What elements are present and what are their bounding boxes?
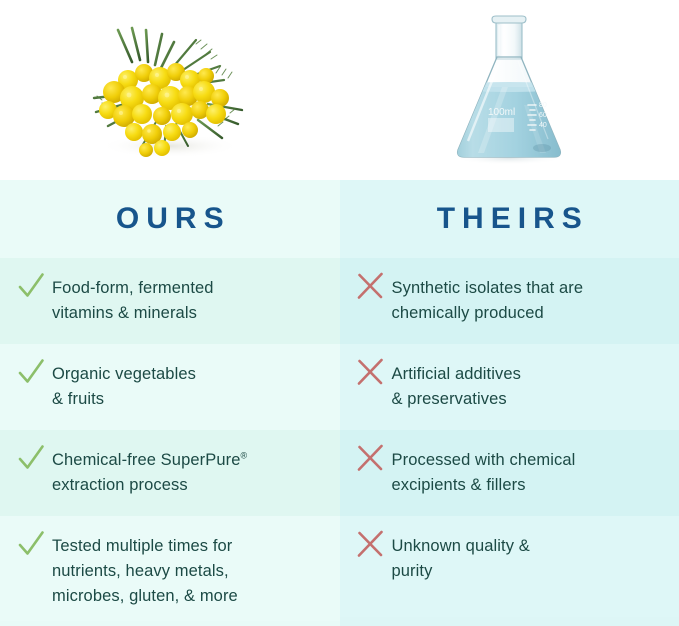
hero-cell-theirs: 80 60 40 100ml — [340, 0, 679, 180]
list-item: Organic vegetables & fruits — [0, 344, 340, 430]
svg-text:100ml: 100ml — [488, 107, 515, 118]
column-header-theirs: THEIRS — [340, 180, 679, 258]
comparison-infographic: 80 60 40 100ml OURS — [0, 0, 679, 626]
list-item-text: Processed with chemical excipients & fil… — [392, 444, 576, 498]
column-theirs: THEIRS Synthetic isolates that are chemi… — [340, 180, 679, 626]
registered-trademark-symbol: ® — [240, 451, 247, 461]
cross-icon — [354, 442, 388, 476]
svg-text:80: 80 — [539, 102, 547, 109]
hero-cell-ours — [0, 0, 340, 180]
list-item-text: Chemical-free SuperPure® extraction proc… — [52, 444, 247, 498]
rows-theirs: Synthetic isolates that are chemically p… — [340, 258, 679, 626]
check-icon — [14, 528, 48, 562]
cross-icon — [354, 270, 388, 304]
list-item: Chemical-free SuperPure® extraction proc… — [0, 430, 340, 516]
cross-icon — [354, 356, 388, 390]
erlenmeyer-flask-photo: 80 60 40 100ml — [444, 15, 574, 167]
list-item: Processed with chemical excipients & fil… — [340, 430, 679, 516]
list-item-text: Organic vegetables & fruits — [52, 358, 196, 412]
list-item: Artificial additives & preservatives — [340, 344, 679, 430]
check-icon — [14, 356, 48, 390]
list-item-text: Artificial additives & preservatives — [392, 358, 521, 412]
column-ours: OURS Food-form, fermented vitamins & min… — [0, 180, 340, 626]
hero-image-band: 80 60 40 100ml — [0, 0, 679, 180]
list-item-text: Synthetic isolates that are chemically p… — [392, 272, 584, 326]
list-item: Food-form, fermented vitamins & minerals — [0, 258, 340, 344]
column-header-ours: OURS — [0, 180, 340, 258]
list-item: Unknown quality & purity — [340, 516, 679, 617]
rows-ours: Food-form, fermented vitamins & minerals… — [0, 258, 340, 626]
comparison-table: OURS Food-form, fermented vitamins & min… — [0, 180, 679, 626]
list-item-text: Food-form, fermented vitamins & minerals — [52, 272, 214, 326]
list-item: Tested multiple times for nutrients, hea… — [0, 516, 340, 621]
check-icon — [14, 442, 48, 476]
list-item-text: Unknown quality & purity — [392, 530, 530, 584]
list-item: Synthetic isolates that are chemically p… — [340, 258, 679, 344]
mimosa-flower-photo — [70, 18, 270, 168]
check-icon — [14, 270, 48, 304]
list-item-text: Tested multiple times for nutrients, hea… — [52, 530, 238, 609]
cross-icon — [354, 528, 388, 562]
